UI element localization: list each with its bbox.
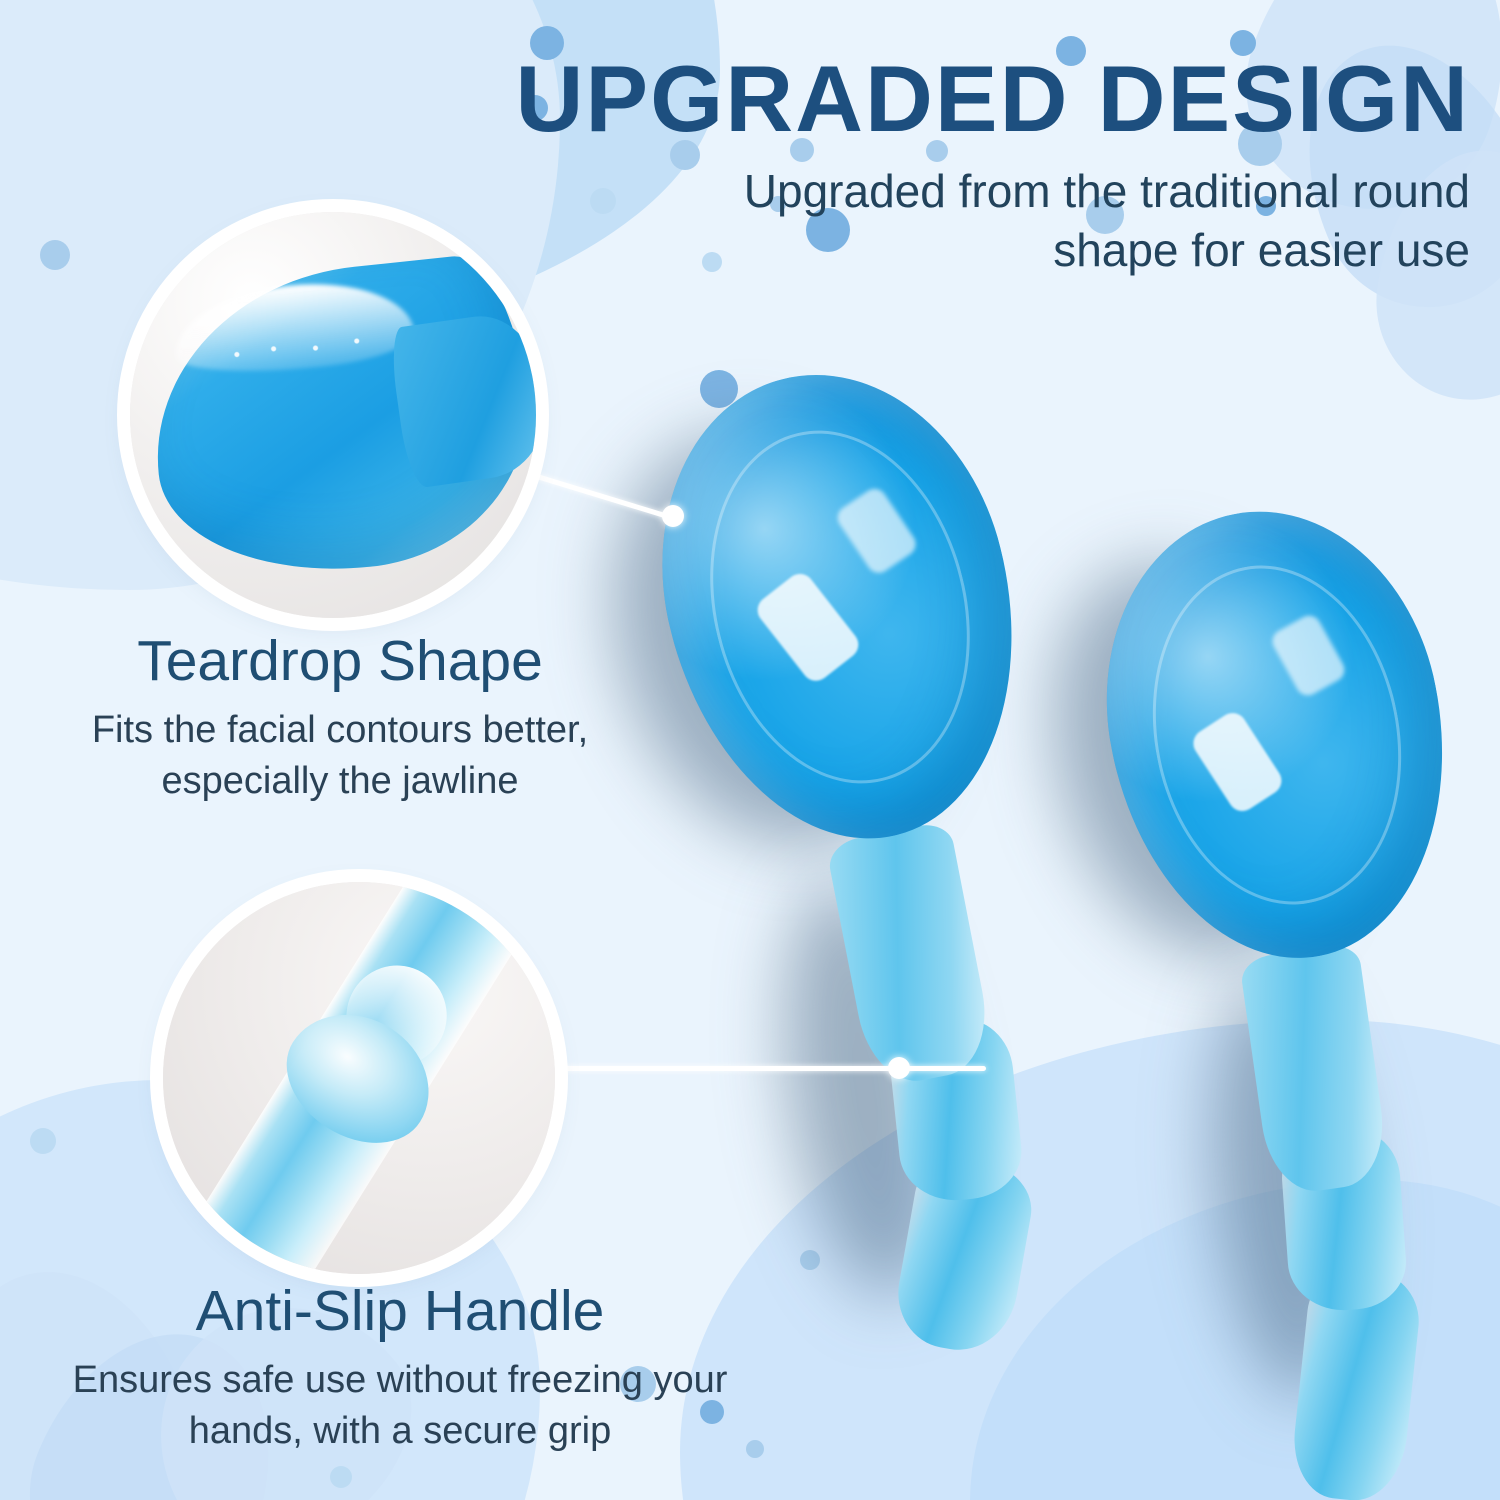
feature-title-teardrop: Teardrop Shape — [20, 630, 660, 693]
leader-dot-teardrop — [662, 505, 684, 527]
feature-desc-handle: Ensures safe use without freezing your h… — [20, 1355, 780, 1457]
teardrop-gel-tip — [387, 308, 536, 489]
decorative-dot — [800, 1250, 820, 1270]
feature-desc-line-1: Ensures safe use without freezing your — [73, 1359, 728, 1401]
globe-inner-ring — [675, 403, 1006, 810]
feature-title-handle: Anti-Slip Handle — [20, 1280, 780, 1343]
decorative-dot — [330, 1466, 352, 1488]
inset-handle-closeup — [163, 882, 555, 1274]
inset-teardrop-closeup — [130, 212, 536, 618]
page-subtitle: Upgraded from the traditional round shap… — [440, 162, 1470, 280]
header-block: UPGRADED DESIGN Upgraded from the tradit… — [440, 52, 1470, 280]
feature-desc-line-1: Fits the facial contours better, — [92, 709, 588, 751]
feature-block-handle: Anti-Slip Handle Ensures safe use withou… — [20, 1280, 780, 1457]
feature-desc-line-2: hands, with a secure grip — [189, 1410, 611, 1452]
globe-inner-ring-2 — [1125, 544, 1430, 926]
subtitle-line-2: shape for easier use — [1053, 224, 1470, 276]
subtitle-line-1: Upgraded from the traditional round — [744, 165, 1470, 217]
leader-line-handle — [556, 1066, 986, 1071]
feature-block-teardrop: Teardrop Shape Fits the facial contours … — [20, 630, 660, 807]
product-feature-graphic: UPGRADED DESIGN Upgraded from the tradit… — [0, 0, 1500, 1500]
leader-dot-handle — [888, 1057, 910, 1079]
decorative-dot — [30, 1128, 56, 1154]
decorative-dot — [40, 240, 70, 270]
page-title: UPGRADED DESIGN — [440, 52, 1470, 146]
feature-desc-line-2: especially the jawline — [162, 760, 519, 802]
feature-desc-teardrop: Fits the facial contours better, especia… — [20, 705, 660, 807]
